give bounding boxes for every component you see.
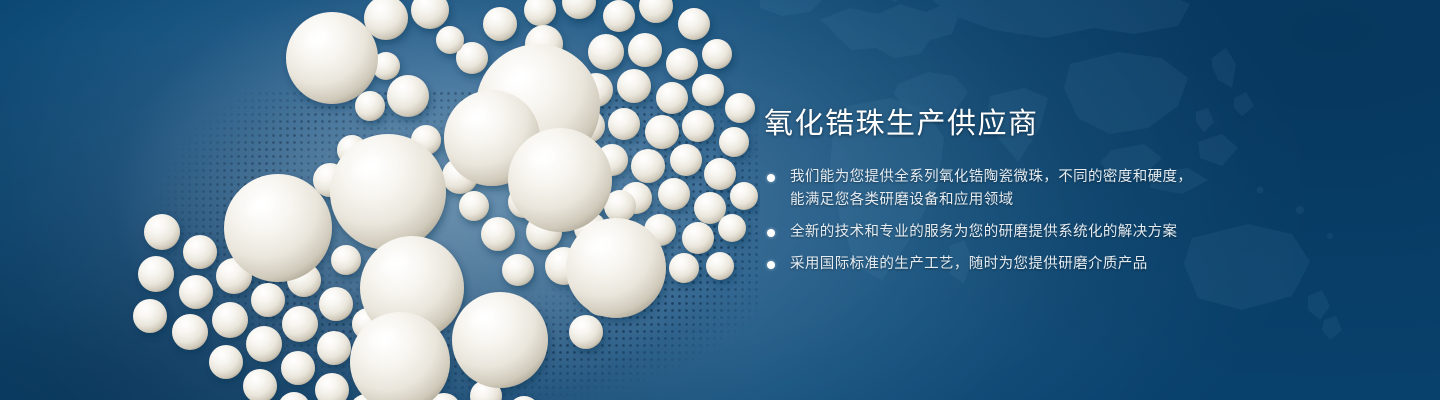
hero-banner: 氧化锆珠生产供应商 我们能为您提供全系列氧化锆陶瓷微珠，不同的密度和硬度， 能满… (0, 0, 1440, 400)
list-item: 我们能为您提供全系列氧化锆陶瓷微珠，不同的密度和硬度， 能满足您各类研磨设备和应… (764, 166, 1384, 212)
bullet-dot-icon (767, 229, 775, 237)
bullet-dot-icon (767, 261, 775, 269)
list-item-line: 能满足您各类研磨设备和应用领域 (790, 189, 1384, 212)
bullet-dot-icon (767, 174, 775, 182)
list-item-line: 全新的技术和专业的服务为您的研磨提供系统化的解决方案 (790, 221, 1384, 244)
list-item: 全新的技术和专业的服务为您的研磨提供系统化的解决方案 (764, 221, 1384, 244)
list-item-line: 我们能为您提供全系列氧化锆陶瓷微珠，不同的密度和硬度， (790, 166, 1384, 189)
banner-content: 氧化锆珠生产供应商 我们能为您提供全系列氧化锆陶瓷微珠，不同的密度和硬度， 能满… (764, 104, 1384, 276)
list-item-line: 采用国际标准的生产工艺，随时为您提供研磨介质产品 (790, 253, 1384, 276)
feature-list: 我们能为您提供全系列氧化锆陶瓷微珠，不同的密度和硬度， 能满足您各类研磨设备和应… (764, 166, 1384, 276)
page-title: 氧化锆珠生产供应商 (764, 104, 1384, 144)
list-item: 采用国际标准的生产工艺，随时为您提供研磨介质产品 (764, 253, 1384, 276)
